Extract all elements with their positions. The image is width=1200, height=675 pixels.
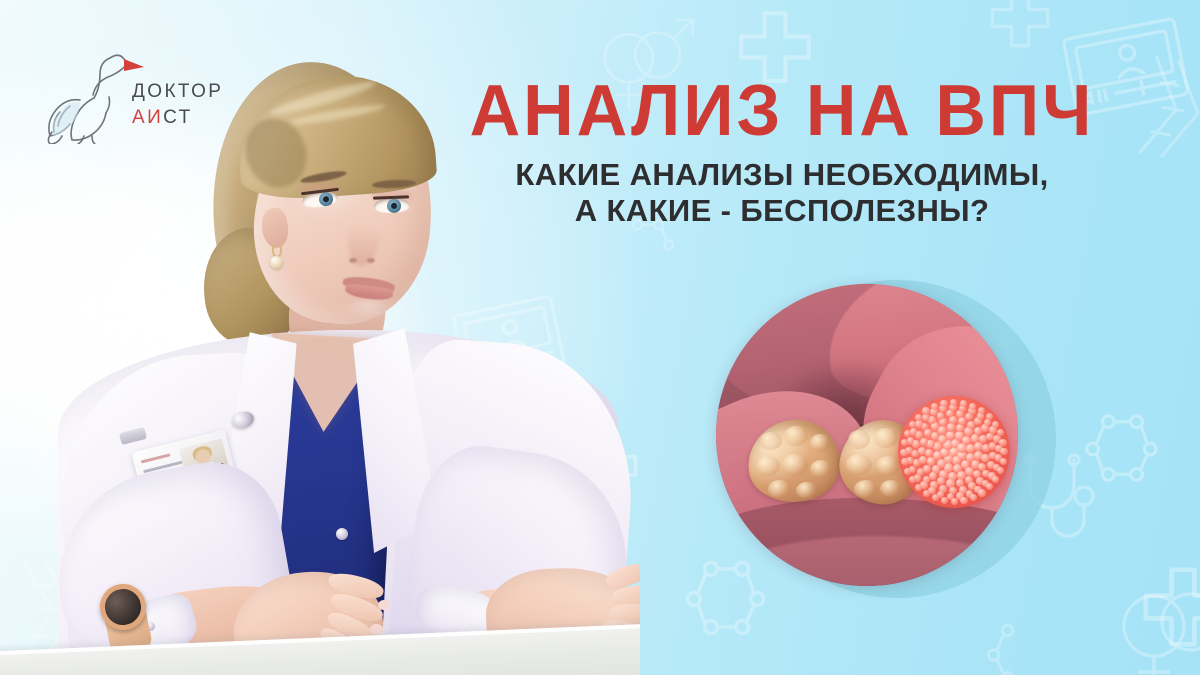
virus-capsomere xyxy=(915,414,922,421)
lesion-bump xyxy=(784,426,808,446)
virus-capsomere xyxy=(940,400,947,407)
virus-capsomere xyxy=(901,439,908,446)
virus-capsomere xyxy=(904,468,911,475)
gender-symbols-icon xyxy=(1108,564,1200,675)
lesion-bump xyxy=(874,428,898,448)
virus-capsomere xyxy=(960,497,967,504)
fingernail xyxy=(378,600,390,610)
lesion-bump xyxy=(846,454,872,475)
virus-capsomere xyxy=(923,465,931,473)
chin-highlight xyxy=(340,300,398,322)
virus-capsomere xyxy=(951,498,958,505)
virus-capsomere xyxy=(915,484,922,491)
virus-capsomere xyxy=(919,456,927,464)
page-subtitle: КАКИЕ АНАЛИЗЫ НЕОБХОДИМЫ, А КАКИЕ - БЕСП… xyxy=(452,157,1112,230)
logo-aist-gray: СТ xyxy=(163,107,193,128)
virus-capsomere xyxy=(932,494,939,501)
virus-capsomere xyxy=(997,467,1004,474)
virus-capsomere xyxy=(937,412,945,420)
virus-capsomere xyxy=(922,407,929,414)
logo-wordmark: ДОКТОР АИСТ xyxy=(132,82,223,127)
molecule-hexagon-icon xyxy=(984,620,1054,675)
virus-capsomere xyxy=(920,438,928,446)
virus-capsomere xyxy=(999,439,1006,446)
virus-capsomere xyxy=(978,407,985,414)
logo-line-doktor: ДОКТОР xyxy=(132,82,223,101)
virus-capsomere xyxy=(970,494,977,501)
virus-capsomere xyxy=(960,400,967,407)
medical-circle-image xyxy=(716,284,1046,614)
badge-text-line xyxy=(141,453,171,463)
pearl-earring xyxy=(270,256,283,269)
brand-logo[interactable]: ДОКТОР АИСТ xyxy=(40,36,210,148)
virus-capsomere xyxy=(900,449,907,456)
fingernail xyxy=(370,624,383,635)
logo-line-aist: АИСТ xyxy=(132,108,223,127)
hpv-virus-particle xyxy=(898,396,1010,508)
virus-capsomere xyxy=(946,431,955,440)
title-block: АНАЛИЗ НА ВПЧ КАКИЕ АНАЛИЗЫ НЕОБХОДИМЫ, … xyxy=(452,76,1112,230)
lesion-bump xyxy=(880,480,902,497)
nostril xyxy=(349,258,357,263)
thumbnail-canvas: ДОКТОР АИСТ АНАЛИЗ НА ВПЧ КАКИЕ АНАЛИЗЫ … xyxy=(0,0,1200,675)
virus-capsomere xyxy=(978,489,985,496)
lesion-bump xyxy=(756,456,780,476)
molecule-hexagon-icon xyxy=(1082,410,1160,488)
lesion-bump xyxy=(768,480,792,498)
virus-capsomere xyxy=(992,421,999,428)
virus-capsomere xyxy=(992,476,999,483)
logo-aist-red: АИ xyxy=(132,107,163,128)
lesion-bump xyxy=(810,434,830,452)
medical-cross-icon xyxy=(988,0,1052,50)
medical-cross-icon xyxy=(1140,564,1200,650)
virus-capsomere xyxy=(956,424,965,433)
virus-capsomere xyxy=(937,477,945,485)
virus-capsomere xyxy=(918,447,926,455)
nostril xyxy=(367,258,375,263)
lesion-bump xyxy=(876,456,900,476)
lesion-bump xyxy=(796,482,818,499)
virus-capsomere xyxy=(922,414,929,421)
virus-capsomere xyxy=(915,420,922,427)
virus-capsomere xyxy=(901,458,908,465)
virus-capsomere xyxy=(997,429,1004,436)
virus-capsomere xyxy=(986,413,993,420)
cervix-hpv-render xyxy=(716,284,1018,586)
virus-capsomere xyxy=(947,423,956,432)
lesion-bump xyxy=(782,454,808,476)
subtitle-line-2: А КАКИЕ - БЕСПОЛЕЗНЫ? xyxy=(452,193,1112,230)
dna-icon xyxy=(1122,50,1200,171)
lesion-bump xyxy=(848,430,870,449)
virus-capsomere xyxy=(929,472,937,480)
virus-capsomere xyxy=(1000,448,1007,455)
coat-button xyxy=(336,528,348,540)
lesion-bump xyxy=(810,460,832,478)
virus-capsomere xyxy=(971,434,980,443)
virus-capsomere xyxy=(986,483,993,490)
lesion-bump xyxy=(760,432,782,450)
virus-capsomere xyxy=(941,497,948,504)
virus-capsomere xyxy=(925,449,934,458)
virus-capsomere xyxy=(904,430,911,437)
virus-capsomere xyxy=(909,476,916,483)
subtitle-line-1: КАКИЕ АНАЛИЗЫ НЕОБХОДИМЫ, xyxy=(452,157,1112,194)
virus-capsomere xyxy=(923,490,930,497)
virus-capsomere xyxy=(909,421,916,428)
virus-capsomere xyxy=(1000,458,1007,465)
lesion-bump xyxy=(854,480,878,498)
virus-capsomere xyxy=(949,416,957,424)
virus-capsomere xyxy=(938,426,947,435)
page-title: АНАЛИЗ НА ВПЧ xyxy=(452,75,1112,146)
